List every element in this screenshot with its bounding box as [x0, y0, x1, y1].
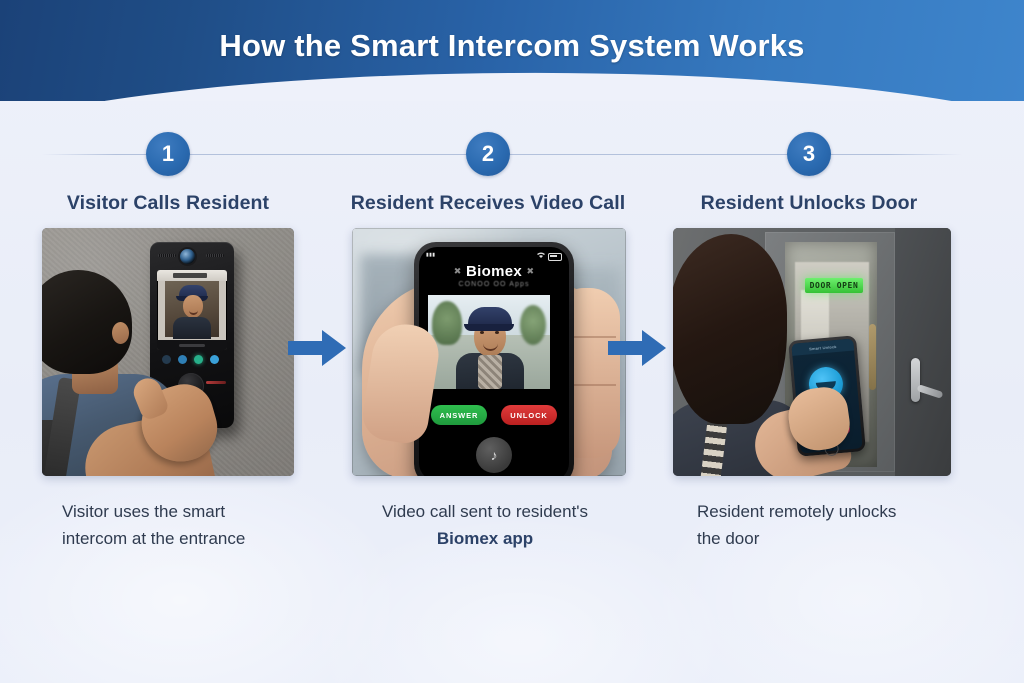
app-name-text: Biomex: [466, 263, 522, 280]
step-title-1: Visitor Calls Resident: [3, 192, 333, 215]
step-image-3: DOOR OPEN Smart Unlock unlocking…: [673, 228, 951, 476]
intercom-button-4: [210, 355, 219, 364]
step-header-3: 3 Resident Unlocks Door: [644, 118, 974, 215]
page-header: How the Smart Intercom System Works: [0, 0, 1024, 101]
steps-strip: 1 Visitor Calls Resident 2 Resident Rece…: [0, 118, 1024, 230]
step-header-1: 1 Visitor Calls Resident: [3, 118, 333, 215]
unlock-app-header: Smart Unlock: [791, 339, 854, 356]
video-caller-shirt: [478, 355, 502, 389]
phone-screen: ▮▮▮ ✖ Biomex ✖ CONOO OO Apps: [419, 247, 569, 476]
signal-icon: ▮▮▮: [426, 252, 435, 258]
incoming-video-feed: [428, 295, 550, 389]
intercom-button-3: [194, 355, 203, 364]
step-caption-2: Video call sent to resident's Biomex app: [335, 498, 635, 552]
visitor-person: [42, 270, 170, 476]
intercom-scene: [42, 228, 294, 476]
step-image-2: ▮▮▮ ✖ Biomex ✖ CONOO OO Apps: [352, 228, 626, 476]
arrow-step2-to-step3: [608, 330, 666, 366]
wifi-icon: [537, 252, 545, 261]
right-arrow-icon: [608, 330, 666, 366]
step-caption-3: Resident remotely unlocks the door: [697, 498, 997, 552]
caption-1-line-2: intercom at the entrance: [62, 529, 245, 548]
right-door-panel: [895, 228, 951, 476]
step-image-1: [42, 228, 294, 476]
right-arrow-icon: [288, 330, 346, 366]
app-subtitle: CONOO OO Apps: [419, 281, 569, 288]
caption-3-line-1: Resident remotely unlocks: [697, 502, 896, 521]
mute-round-button[interactable]: ♪: [476, 437, 512, 473]
battery-icon: [548, 253, 562, 261]
phone-notch: [465, 247, 523, 260]
intercom-button-2: [178, 355, 187, 364]
step-number-badge-1: 1: [146, 132, 190, 176]
visitor-torso: [173, 317, 211, 339]
video-tree-right: [520, 305, 546, 345]
step-number-badge-2: 2: [466, 132, 510, 176]
door-push-bar: [869, 324, 876, 390]
caption-1-line-1: Visitor uses the smart: [62, 502, 225, 521]
app-name-label: ✖ Biomex ✖: [419, 263, 569, 280]
caption-2-line-1: Video call sent to resident's: [382, 502, 588, 521]
resident-hair: [673, 234, 787, 424]
step-number-badge-3: 3: [787, 132, 831, 176]
video-caller-eye-right: [495, 331, 499, 334]
door-open-sign: DOOR OPEN: [805, 278, 863, 293]
step-title-2: Resident Receives Video Call: [323, 192, 653, 215]
video-caller-cap: [468, 307, 512, 328]
step-header-2: 2 Resident Receives Video Call: [323, 118, 653, 215]
call-action-buttons: ANSWER UNLOCK: [419, 405, 569, 427]
answer-button[interactable]: ANSWER: [431, 405, 487, 425]
visitor-ear: [112, 322, 129, 344]
app-decor-left: ✖: [454, 266, 462, 276]
intercom-screen-video: [165, 281, 219, 337]
video-tree-left: [432, 301, 462, 345]
unlock-button[interactable]: UNLOCK: [501, 405, 557, 425]
speaker-grille-right: [206, 254, 224, 257]
door-handle: [911, 358, 920, 402]
intercom-status-led: [206, 381, 226, 384]
page-title: How the Smart Intercom System Works: [0, 28, 1024, 64]
speaker-grille-left: [158, 254, 176, 257]
step-title-3: Resident Unlocks Door: [644, 192, 974, 215]
intercom-camera-icon: [180, 249, 195, 264]
step-caption-1: Visitor uses the smart intercom at the e…: [62, 498, 362, 552]
caption-2-app-name: Biomex app: [437, 529, 533, 548]
caption-3-line-2: the door: [697, 529, 759, 548]
arrow-step1-to-step2: [288, 330, 346, 366]
app-decor-right: ✖: [526, 266, 534, 276]
door-scene: DOOR OPEN Smart Unlock unlocking…: [673, 228, 951, 476]
video-caller-eye-left: [480, 331, 484, 334]
phone-scene: ▮▮▮ ✖ Biomex ✖ CONOO OO Apps: [352, 228, 626, 476]
